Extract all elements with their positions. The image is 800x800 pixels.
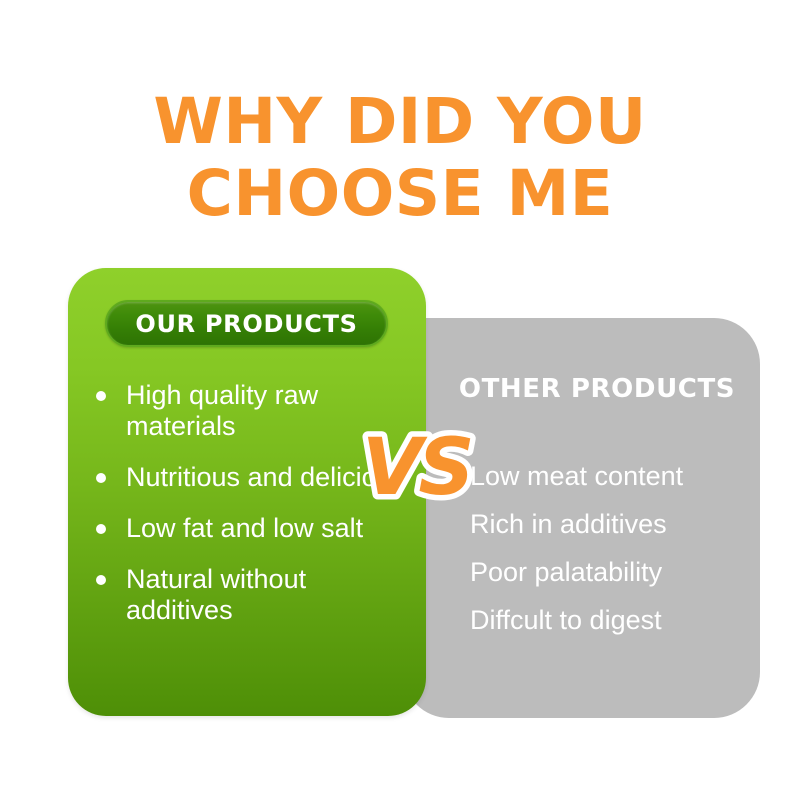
list-item: Low meat content — [470, 461, 750, 491]
page-title-line-2: CHOOSE ME — [0, 158, 800, 230]
list-item: High quality raw materials — [92, 380, 412, 442]
page-title-line-1: WHY DID YOU — [0, 86, 800, 158]
other-products-card: OTHER PRODUCTS Low meat content Rich in … — [403, 318, 760, 718]
our-products-header: OUR PRODUCTS — [135, 310, 357, 338]
our-products-list: High quality raw materials Nutritious an… — [92, 380, 412, 646]
list-item: Poor palatability — [470, 557, 750, 587]
page-title: WHY DID YOU CHOOSE ME — [0, 86, 800, 230]
list-item: Natural without additives — [92, 564, 412, 626]
list-item: Diffcult to digest — [470, 605, 750, 635]
other-products-header: OTHER PRODUCTS — [434, 374, 760, 404]
list-item: Rich in additives — [470, 509, 750, 539]
list-item: Low fat and low salt — [92, 513, 412, 544]
other-products-list: Low meat content Rich in additives Poor … — [470, 461, 750, 653]
list-item: Nutritious and delicious — [92, 462, 412, 493]
infographic-canvas: WHY DID YOU CHOOSE ME OTHER PRODUCTS Low… — [0, 0, 800, 800]
our-products-card: OUR PRODUCTS High quality raw materials … — [68, 268, 426, 716]
our-products-header-pill: OUR PRODUCTS — [105, 300, 388, 347]
